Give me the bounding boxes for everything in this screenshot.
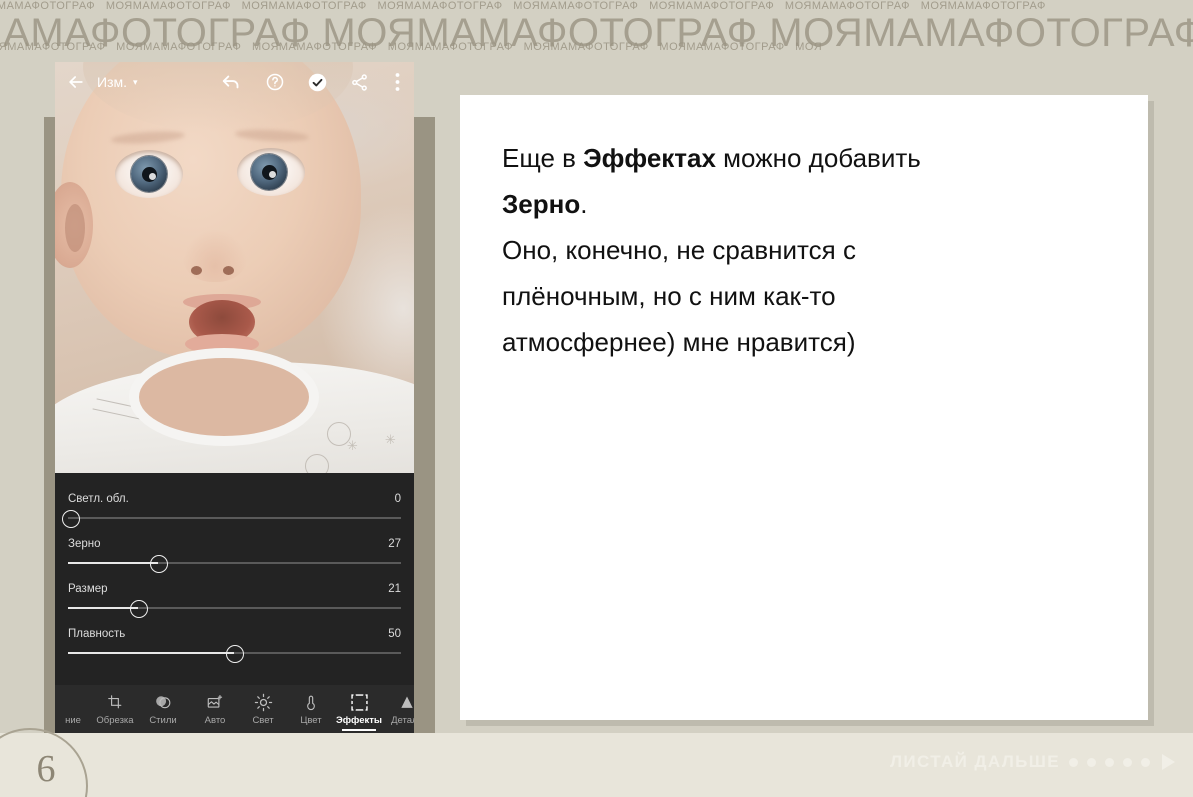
help-icon[interactable] xyxy=(254,72,296,92)
slider-value: 0 xyxy=(395,493,401,505)
slider-value: 27 xyxy=(388,538,401,550)
slide-root: МОЯМАМАФОТОГРАФ МОЯМАМАФОТОГРАФ МОЯМАМАФ… xyxy=(0,0,1193,797)
footer-cta[interactable]: ЛИСТАЙ ДАЛЬШЕ xyxy=(890,752,1175,772)
tab-label: Стили xyxy=(149,715,176,726)
slider-value: 21 xyxy=(388,583,401,595)
editor-toolbar: ние Обрезка Стили Авто xyxy=(55,685,414,733)
tab-label: ние xyxy=(65,715,81,726)
text-bold-effects: Эффектах xyxy=(583,143,716,173)
confirm-check-icon[interactable] xyxy=(296,72,338,93)
kebab-menu-icon[interactable] xyxy=(380,72,414,92)
thermometer-icon xyxy=(303,693,319,712)
tab-label: Детали xyxy=(391,715,414,726)
progress-dot xyxy=(1123,758,1132,767)
slider-thumb[interactable] xyxy=(62,510,80,528)
tab-styles[interactable]: Стили xyxy=(139,693,187,726)
baby-ear-inner xyxy=(65,204,85,252)
slider-label: Плавность xyxy=(68,628,125,640)
editor-header: Изм. ▾ xyxy=(55,62,414,102)
baby-eye-right xyxy=(237,148,305,196)
page-number: 6 xyxy=(26,746,66,792)
chevron-down-icon[interactable]: ▾ xyxy=(133,77,138,88)
auto-icon xyxy=(206,693,224,712)
slider-label: Зерно xyxy=(68,538,100,550)
progress-dot xyxy=(1069,758,1078,767)
share-icon[interactable] xyxy=(338,73,380,92)
watermark-row-bottom: ОЯМАМАФОТОГРАФ МОЯМАМАФОТОГРАФ МОЯМАМАФО… xyxy=(0,41,822,53)
slider-fill xyxy=(68,607,138,609)
effects-slider-panel: Светл. обл. 0 Зерно 27 Размер 21 xyxy=(55,473,414,685)
tab-label: Цвет xyxy=(300,715,321,726)
slider-thumb[interactable] xyxy=(150,555,168,573)
text-seg-2: можно добавить xyxy=(716,143,921,173)
tab-effects[interactable]: Эффекты xyxy=(335,693,383,726)
text-line-3: Оно, конечно, не сравнится с xyxy=(502,235,856,265)
text-card: Еще в Эффектах можно добавить Зерно. Оно… xyxy=(460,95,1148,720)
slider-fill xyxy=(68,652,234,654)
tab-label: Авто xyxy=(205,715,226,726)
tab-details[interactable]: Детали xyxy=(383,693,414,726)
slider-thumb[interactable] xyxy=(226,645,244,663)
card-body-text: Еще в Эффектах можно добавить Зерно. Оно… xyxy=(502,135,1077,365)
play-triangle-icon[interactable] xyxy=(1162,754,1175,770)
slider-label: Светл. обл. xyxy=(68,493,129,505)
eye-glint xyxy=(149,173,156,180)
iris xyxy=(251,154,287,190)
styles-icon xyxy=(154,693,172,712)
sun-icon xyxy=(254,693,273,712)
slider-track[interactable] xyxy=(68,517,401,519)
pupil xyxy=(262,165,277,180)
baby-nostril xyxy=(223,266,234,275)
progress-dot xyxy=(1087,758,1096,767)
slider-thumb[interactable] xyxy=(130,600,148,618)
active-tab-indicator xyxy=(342,729,376,731)
onesie-star: ✳ xyxy=(347,438,358,454)
progress-dot xyxy=(1141,758,1150,767)
slider-label: Размер xyxy=(68,583,108,595)
crop-icon xyxy=(107,693,124,712)
photo-preview[interactable]: ✳ ✳ xyxy=(55,62,414,473)
details-icon xyxy=(398,693,414,712)
tab-crop[interactable]: Обрезка xyxy=(91,693,139,726)
tab-color[interactable]: Цвет xyxy=(287,693,335,726)
onesie-collar xyxy=(139,358,309,436)
onesie-star: ✳ xyxy=(385,432,396,448)
tab-auto[interactable]: Авто xyxy=(191,693,239,726)
text-line-5: атмосфернее) мне нравится) xyxy=(502,327,856,357)
phone-screenshot: ✳ ✳ xyxy=(55,62,414,733)
text-bold-grain: Зерно xyxy=(502,189,580,219)
tab-light[interactable]: Свет xyxy=(239,693,287,726)
tab-label: Эффекты xyxy=(336,715,382,726)
baby-nostril xyxy=(191,266,202,275)
back-arrow-icon[interactable] xyxy=(55,72,97,92)
text-seg-3: . xyxy=(580,189,587,219)
effects-icon xyxy=(350,693,369,712)
baby-eye-left xyxy=(115,150,183,198)
eye-glint xyxy=(269,171,276,178)
watermark-band: МОЯМАМАФОТОГРАФ МОЯМАМАФОТОГРАФ МОЯМАМАФ… xyxy=(0,0,1193,62)
text-line-4: плёночным, но с ним как-то xyxy=(502,281,836,311)
slider-fill xyxy=(68,562,158,564)
onesie-snap xyxy=(305,454,329,473)
iris xyxy=(131,156,167,192)
editor-title[interactable]: Изм. xyxy=(97,74,127,90)
tab-label: Свет xyxy=(252,715,273,726)
undo-icon[interactable] xyxy=(210,71,254,93)
progress-dot xyxy=(1105,758,1114,767)
slider-value: 50 xyxy=(388,628,401,640)
pupil xyxy=(142,167,157,182)
tab-label: Обрезка xyxy=(96,715,133,726)
text-seg-1: Еще в xyxy=(502,143,583,173)
tab-partial[interactable]: ние xyxy=(55,693,91,726)
footer-label: ЛИСТАЙ ДАЛЬШЕ xyxy=(890,752,1060,772)
